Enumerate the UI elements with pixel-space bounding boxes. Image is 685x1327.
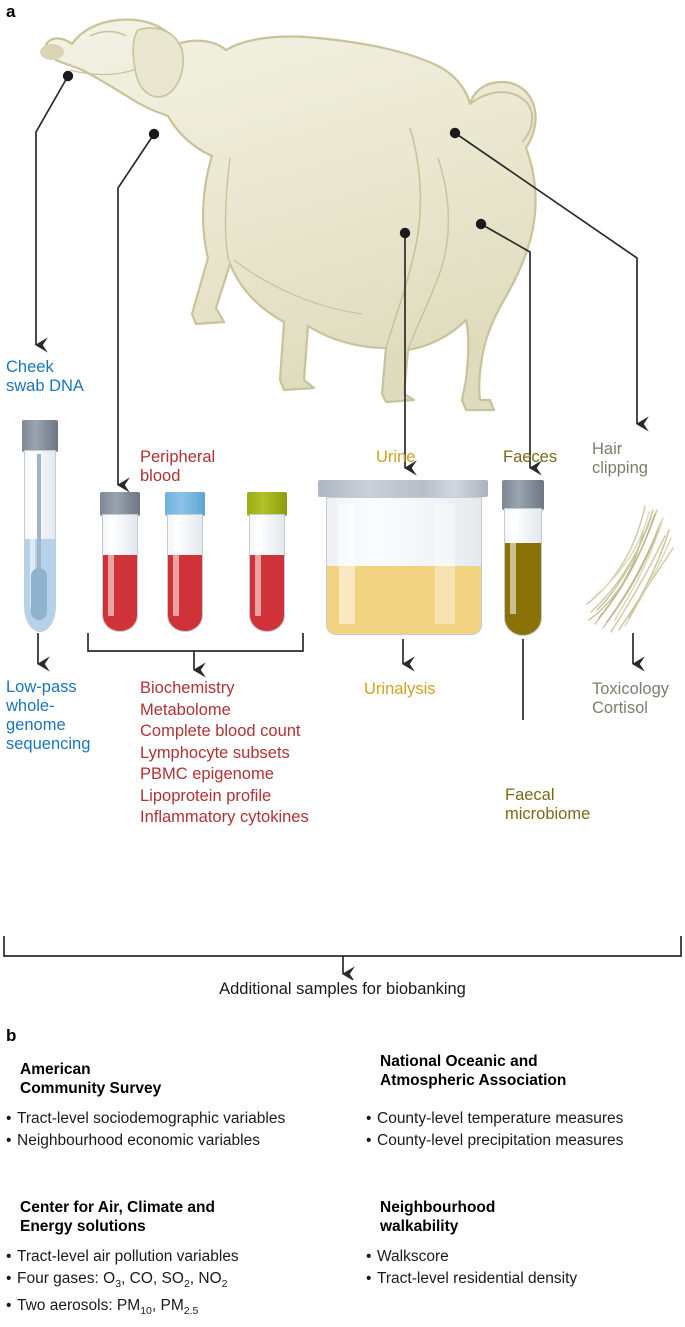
urine-cup-lid	[318, 480, 488, 497]
assay-blood-4: PBMC epigenome	[140, 764, 309, 786]
blood-tube-1-body	[102, 514, 138, 632]
block0-item0: Tract-level sociodemographic variables	[17, 1110, 285, 1127]
hair-clipping-illustration	[585, 492, 681, 637]
blood-tube-2-cap	[165, 492, 205, 516]
label-cheek-line2: swab DNA	[6, 377, 84, 396]
assay-blood-2: Complete blood count	[140, 721, 309, 743]
assay-blood-0: Biochemistry	[140, 678, 309, 700]
list-item: •Tract-level air pollution variables	[6, 1246, 239, 1268]
list-item: •County-level temperature measures	[366, 1108, 623, 1130]
assay-arrows	[0, 630, 685, 720]
block3-item1: Tract-level residential density	[377, 1270, 577, 1287]
block-title-american-community-survey: American Community Survey	[20, 1060, 161, 1098]
list-item: •Two aerosols: PM10, PM2.5	[6, 1295, 239, 1322]
assays-blood: Biochemistry Metabolome Complete blood c…	[140, 678, 309, 829]
label-faeces: Faeces	[503, 448, 557, 467]
block2-item1: Four gases: O3, CO, SO2, NO2	[17, 1270, 228, 1287]
faeces-tube-body	[504, 508, 542, 636]
assay-faeces-1: microbiome	[505, 805, 590, 824]
blood-tube-1-cap	[100, 492, 140, 516]
block0-item1: Neighbourhood economic variables	[17, 1132, 260, 1149]
assay-cheek-1: whole-	[6, 697, 90, 716]
block3-title-line0: Neighbourhood	[380, 1198, 495, 1217]
assay-hair-0: Toxicology	[592, 680, 669, 699]
bullet-icon: •	[6, 1268, 17, 1290]
block1-title-line1: Atmospheric Association	[380, 1071, 566, 1090]
faeces-tube	[502, 480, 544, 635]
label-blood-line1: Peripheral	[140, 448, 215, 467]
bullet-icon: •	[366, 1268, 377, 1290]
bullet-icon: •	[6, 1130, 17, 1152]
block1-item1: County-level precipitation measures	[377, 1132, 623, 1149]
block-items-american-community-survey: •Tract-level sociodemographic variables …	[6, 1108, 285, 1152]
assay-blood-5: Lipoprotein profile	[140, 786, 309, 808]
list-item: •Walkscore	[366, 1246, 577, 1268]
bullet-icon: •	[366, 1108, 377, 1130]
collection-point-faeces	[476, 219, 486, 229]
label-cheek-swab: Cheek swab DNA	[6, 358, 84, 396]
block2-title-line0: Center for Air, Climate and	[20, 1198, 215, 1217]
assay-blood-3: Lymphocyte subsets	[140, 743, 309, 765]
bullet-icon: •	[6, 1246, 17, 1268]
bullet-icon: •	[6, 1108, 17, 1130]
block2-title-line1: Energy solutions	[20, 1217, 215, 1236]
panel-b-letter: b	[6, 1026, 16, 1046]
block1-item0: County-level temperature measures	[377, 1110, 623, 1127]
bullet-icon: •	[6, 1295, 17, 1317]
label-hair-line2: clipping	[592, 459, 648, 478]
assay-cheek-3: sequencing	[6, 735, 90, 754]
collection-point-urine	[400, 228, 410, 238]
blood-tube-3-body	[249, 514, 285, 632]
label-urine: Urine	[376, 448, 415, 467]
block0-title-line0: American	[20, 1060, 161, 1079]
swab-tube-cap	[22, 420, 58, 452]
label-hair-line1: Hair	[592, 440, 648, 459]
blood-tube-2	[165, 492, 205, 632]
blood-tube-2-body	[167, 514, 203, 632]
list-item: •Four gases: O3, CO, SO2, NO2	[6, 1268, 239, 1295]
assay-blood-6: Inflammatory cytokines	[140, 807, 309, 829]
block-items-walkability: •Walkscore •Tract-level residential dens…	[366, 1246, 577, 1290]
assays-urine: Urinalysis	[364, 680, 436, 699]
block3-item0: Walkscore	[377, 1248, 449, 1265]
biobank-bracket	[0, 920, 685, 980]
collection-point-blood	[149, 129, 159, 139]
block1-title-line0: National Oceanic and	[380, 1052, 566, 1071]
list-item: •County-level precipitation measures	[366, 1130, 623, 1152]
block2-item2: Two aerosols: PM10, PM2.5	[17, 1297, 198, 1314]
urine-cup-body	[326, 497, 482, 635]
sample-connectors	[0, 0, 685, 520]
assay-faeces-0: Faecal	[505, 786, 590, 805]
assay-hair-1: Cortisol	[592, 699, 669, 718]
faeces-tube-cap	[502, 480, 544, 510]
collection-point-cheek	[63, 71, 73, 81]
swab-tube	[22, 420, 58, 632]
blood-tube-3	[247, 492, 287, 632]
label-cheek-line1: Cheek	[6, 358, 84, 377]
assay-cheek-0: Low-pass	[6, 678, 90, 697]
assay-cheek-2: genome	[6, 716, 90, 735]
list-item: •Neighbourhood economic variables	[6, 1130, 285, 1152]
collection-point-hair	[450, 128, 460, 138]
assays-cheek: Low-pass whole- genome sequencing	[6, 678, 90, 754]
assay-blood-1: Metabolome	[140, 700, 309, 722]
block-title-walkability: Neighbourhood walkability	[380, 1198, 495, 1236]
block0-title-line1: Community Survey	[20, 1079, 161, 1098]
block-title-noaa: National Oceanic and Atmospheric Associa…	[380, 1052, 566, 1090]
label-peripheral-blood: Peripheral blood	[140, 448, 215, 486]
block2-item0: Tract-level air pollution variables	[17, 1248, 239, 1265]
bullet-icon: •	[366, 1130, 377, 1152]
assays-hair: Toxicology Cortisol	[592, 680, 669, 718]
block-items-noaa: •County-level temperature measures •Coun…	[366, 1108, 623, 1152]
block3-title-line1: walkability	[380, 1217, 495, 1236]
block-items-caces: •Tract-level air pollution variables •Fo…	[6, 1246, 239, 1322]
biobank-caption: Additional samples for biobanking	[0, 980, 685, 999]
list-item: •Tract-level sociodemographic variables	[6, 1108, 285, 1130]
label-blood-line2: blood	[140, 467, 215, 486]
bullet-icon: •	[366, 1246, 377, 1268]
list-item: •Tract-level residential density	[366, 1268, 577, 1290]
block-title-caces: Center for Air, Climate and Energy solut…	[20, 1198, 215, 1236]
blood-tube-3-cap	[247, 492, 287, 516]
blood-tube-1	[100, 492, 140, 632]
assays-faeces: Faecal microbiome	[505, 786, 590, 824]
label-hair-clipping: Hair clipping	[592, 440, 648, 478]
